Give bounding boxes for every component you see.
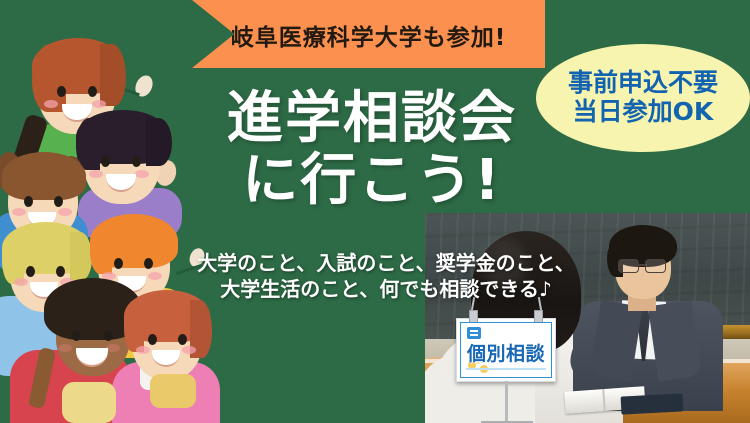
figure5-eye-right: [144, 258, 153, 269]
subtitle-line-1: 大学のこと、入試のこと、奨学金のこと、: [197, 251, 575, 275]
eyeglasses-icon: [618, 259, 666, 271]
figure4-blush-left: [14, 278, 28, 286]
figure3-blush-left: [12, 208, 26, 216]
figure2-hair-side2: [146, 118, 172, 166]
figure7-hair-side: [124, 300, 144, 352]
headline: 進学相談会 に行こう!: [196, 88, 548, 212]
promo-banner: 個別相談: [0, 0, 750, 423]
figure7-eye-right: [178, 334, 187, 345]
figure3-hair: [2, 152, 86, 200]
students-illustration: [0, 0, 218, 423]
shoulder-bag: [62, 382, 116, 423]
no-reservation-badge: 事前申込不要 当日参加OK: [536, 44, 750, 152]
subtitle: 大学のこと、入試のこと、奨学金のこと、 大学生活のこと、何でも相談できる♪: [196, 250, 576, 302]
figure3-eye-right: [54, 196, 63, 207]
figure1-blush-left: [44, 100, 58, 108]
participation-ribbon: 岐阜医療科学大学も参加!: [192, 0, 545, 68]
documents: [621, 393, 684, 414]
figure4-eye-left: [26, 266, 35, 277]
figure2-blush-right: [135, 170, 149, 178]
sign-face: 個別相談: [460, 322, 552, 378]
figure6-blush-right: [106, 344, 120, 352]
figure7-eye-left: [148, 334, 157, 345]
badge-line-2: 当日参加OK: [573, 97, 714, 126]
headline-line-1: 進学相談会: [227, 86, 517, 151]
document-icon: [467, 327, 481, 339]
figure5-eye-left: [114, 258, 123, 269]
consultation-sign: 個別相談: [456, 318, 556, 382]
figure7-blush-left: [136, 346, 150, 354]
sign-stand: [505, 381, 508, 423]
figure6-blush-left: [58, 344, 72, 352]
figure1-eye-right: [88, 86, 97, 97]
figure7-bag: [150, 374, 196, 408]
figure6-eye-right: [104, 330, 113, 341]
figure2-eye-left: [101, 156, 110, 167]
figure4-hair-side: [2, 232, 24, 284]
figure3-blush-right: [58, 208, 72, 216]
figure2-blush-left: [89, 170, 103, 178]
figure3-eye-left: [24, 196, 33, 207]
figure1-eye-left: [57, 86, 66, 97]
headline-line-2: に行こう!: [196, 150, 548, 212]
figure5-hair-side: [90, 224, 112, 274]
subtitle-line-2: 大学生活のこと、何でも相談できる♪: [220, 277, 552, 301]
figure5-blush-right: [148, 272, 162, 280]
sign-underline: [466, 368, 546, 370]
badge-label: 事前申込不要 当日参加OK: [536, 68, 750, 126]
sign-label: 個別相談: [461, 339, 551, 366]
figure6-eye-left: [72, 330, 81, 341]
figure1-hair-side2: [100, 44, 126, 106]
ribbon-label: 岐阜医療科学大学も参加!: [192, 18, 545, 52]
figure7-blush-right: [182, 346, 196, 354]
figure4-eye-right: [56, 266, 65, 277]
figure1-blush-right: [92, 100, 106, 108]
figure4-hair-side2: [70, 232, 92, 280]
figure2-eye-right: [132, 156, 141, 167]
badge-line-1: 事前申込不要: [568, 68, 718, 97]
